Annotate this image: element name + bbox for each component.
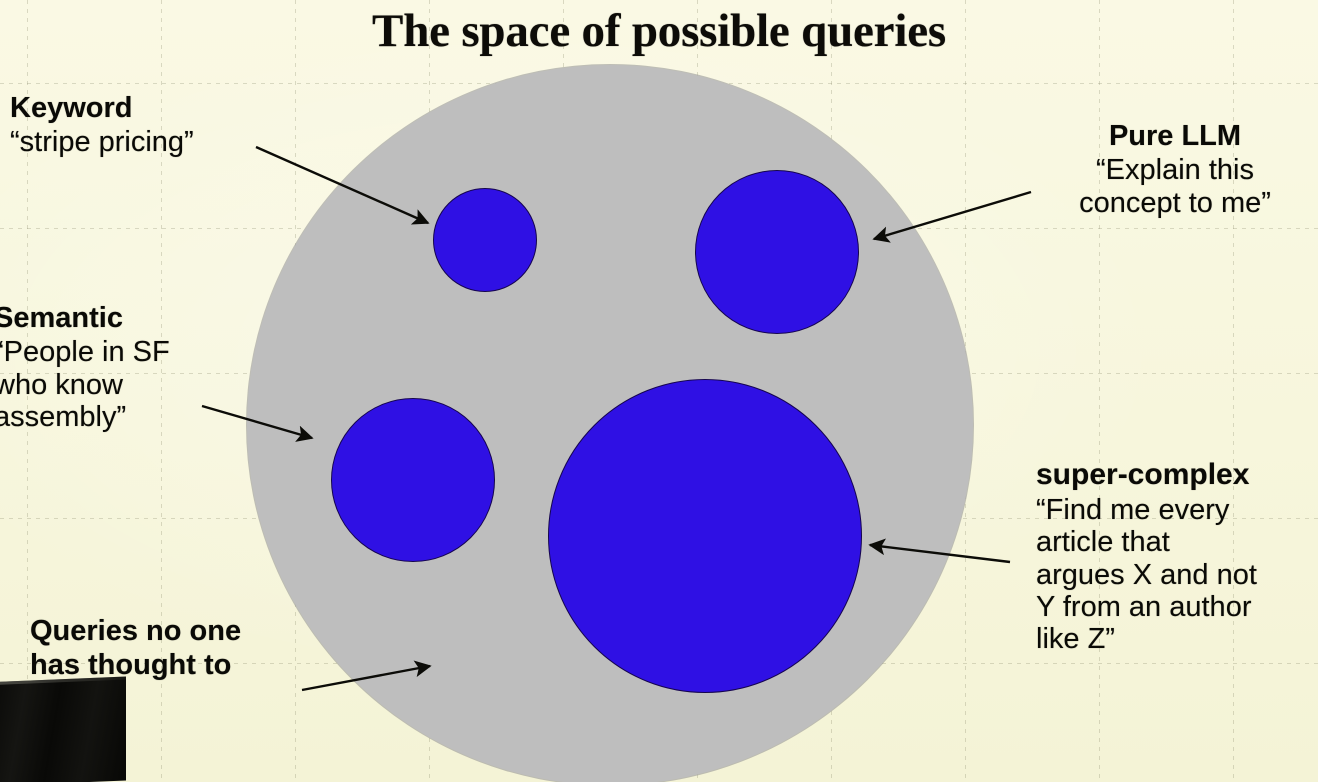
annotation-super-complex-quote-line: Y from an author xyxy=(1036,591,1318,623)
video-overlay-box xyxy=(0,676,126,782)
annotation-pure-llm-quote-line: “Explain this xyxy=(1040,154,1310,186)
annotation-keyword-quote-line: “stripe pricing” xyxy=(10,126,194,158)
bubble-super-complex[interactable] xyxy=(548,379,862,693)
slide-canvas: The space of possible queries Keyword “s… xyxy=(0,0,1318,782)
annotation-super-complex-quote-line: article that xyxy=(1036,526,1318,558)
annotation-keyword-head: Keyword xyxy=(10,92,194,124)
annotation-super-complex: super-complex “Find me every article tha… xyxy=(1036,458,1318,656)
bubble-keyword[interactable] xyxy=(433,188,537,292)
annotation-unthought-head-line: Queries no one xyxy=(30,615,241,647)
annotation-semantic-head: Semantic xyxy=(0,302,170,334)
annotation-super-complex-quote-line: like Z” xyxy=(1036,623,1318,655)
annotation-super-complex-head: super-complex xyxy=(1036,458,1318,492)
annotation-pure-llm: Pure LLM “Explain this concept to me” xyxy=(1040,120,1310,219)
annotation-pure-llm-quote-line: concept to me” xyxy=(1040,187,1310,219)
bubble-semantic[interactable] xyxy=(331,398,495,562)
annotation-super-complex-quote-line: “Find me every xyxy=(1036,494,1318,526)
bubble-pure-llm[interactable] xyxy=(695,170,859,334)
annotation-semantic-quote-line: who know xyxy=(0,369,170,401)
annotation-pure-llm-head: Pure LLM xyxy=(1040,120,1310,152)
annotation-unthought-head-line: has thought to xyxy=(30,649,241,681)
annotation-semantic-quote-line: “People in SF xyxy=(0,336,170,368)
annotation-super-complex-quote-line: argues X and not xyxy=(1036,559,1318,591)
annotation-semantic: Semantic “People in SF who know assembly… xyxy=(0,302,170,434)
annotation-keyword: Keyword “stripe pricing” xyxy=(10,92,194,159)
annotation-semantic-quote-line: assembly” xyxy=(0,401,170,433)
